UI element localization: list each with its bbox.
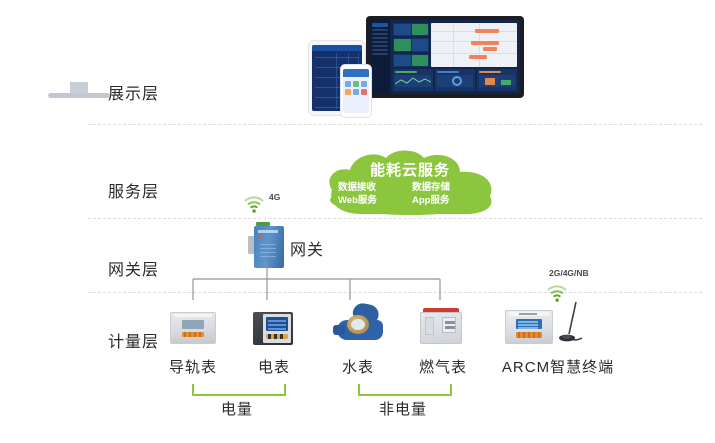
cloud-feature-0: 数据接收 <box>338 182 408 194</box>
group-label-electric: 电量 <box>192 398 282 419</box>
cloud-title: 能耗云服务 <box>320 159 500 180</box>
bracket-non-electric-group <box>358 384 452 396</box>
gas-meter-icon <box>420 308 462 344</box>
panel-electric-meter-icon <box>253 312 293 345</box>
layer-label-display: 展示层 <box>108 80 188 104</box>
device-label-electric-meter: 电表 <box>256 356 292 377</box>
architecture-diagram: 展示层 服务层 网关层 计量层 <box>0 0 715 443</box>
cloud-service-block: 能耗云服务 数据接收 数据存储 Web服务 App服务 <box>320 148 500 216</box>
device-label-arcm-terminal: ARCM智慧终端 <box>498 356 618 377</box>
device-label-gas-meter: 燃气表 <box>418 356 468 377</box>
layer-label-service: 服务层 <box>108 178 188 202</box>
bracket-electric-group <box>192 384 286 396</box>
dashboard-bottom-panels <box>393 69 517 91</box>
gateway-label: 网关 <box>290 236 324 260</box>
monitor-device <box>366 16 524 98</box>
uplink-tag-2g-4g-nb: 2G/4G/NB <box>549 268 589 278</box>
monitor-stand-base <box>48 93 110 98</box>
cloud-feature-3: App服务 <box>412 195 482 207</box>
device-label-water-meter: 水表 <box>340 356 376 377</box>
smartphone-screen <box>343 69 369 113</box>
wifi-icon-gateway <box>243 195 265 213</box>
monitor-screen <box>370 20 520 94</box>
cloud-feature-list: 数据接收 数据存储 Web服务 App服务 <box>338 182 482 207</box>
device-label-din-rail-meter: 导轨表 <box>168 356 218 377</box>
dashboard-sidebar <box>370 20 390 94</box>
separator-display-service <box>88 124 702 125</box>
separator-service-gateway <box>88 218 702 219</box>
uplink-tag-4g: 4G <box>269 192 280 202</box>
dashboard-stat-cards <box>393 23 429 67</box>
water-meter-icon <box>333 304 385 344</box>
smartphone-device <box>340 64 372 118</box>
gateway-to-meters-connector <box>150 262 480 300</box>
group-label-non-electric: 非电量 <box>358 398 448 419</box>
antenna-icon <box>556 300 586 346</box>
arcm-terminal-icon <box>505 310 553 344</box>
cloud-feature-2: Web服务 <box>338 195 408 207</box>
din-rail-meter-icon <box>170 312 216 344</box>
dashboard-map-panel <box>431 23 517 67</box>
cloud-feature-1: 数据存储 <box>412 182 482 194</box>
